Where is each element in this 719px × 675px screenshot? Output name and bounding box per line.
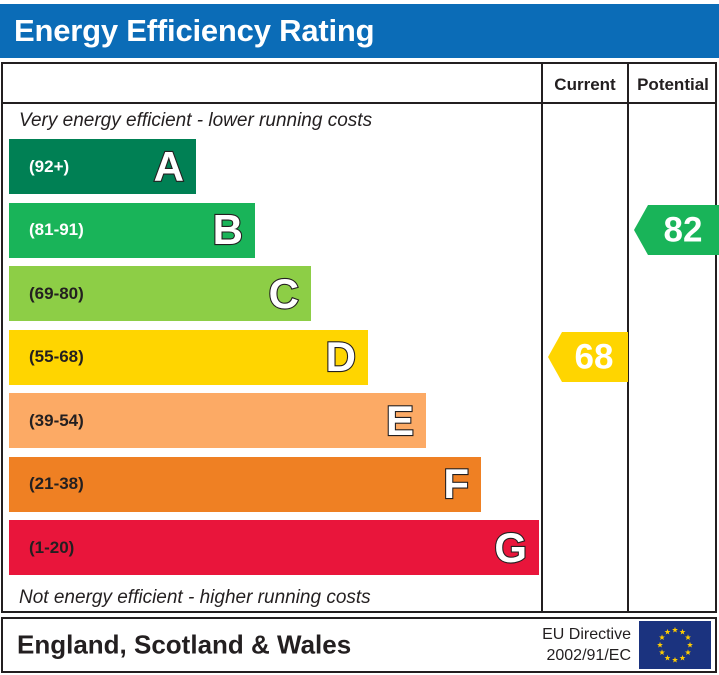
caption-very-efficient: Very energy efficient - lower running co… — [19, 110, 372, 132]
band-bar-c: (69-80)C — [9, 266, 311, 321]
column-header-current: Current — [543, 74, 627, 96]
band-bar-group: (92+)A(81-91)B(69-80)C(55-68)D(39-54)E(2… — [9, 139, 539, 579]
chart-title-bar: Energy Efficiency Rating — [0, 4, 719, 58]
band-letter-b: B — [213, 209, 243, 251]
current-rating-value: 68 — [566, 340, 622, 375]
band-range-g: (1-20) — [29, 538, 74, 558]
rating-table: Current Potential Very energy efficient … — [1, 62, 717, 613]
current-rating-marker: 68 — [548, 332, 628, 382]
chart-footer: England, Scotland & Wales EU Directive 2… — [1, 617, 717, 673]
potential-rating-marker: 82 — [634, 205, 719, 255]
band-letter-g: G — [494, 527, 527, 569]
band-range-a: (92+) — [29, 157, 69, 177]
band-letter-d: D — [326, 336, 356, 378]
band-range-b: (81-91) — [29, 220, 84, 240]
potential-rating-value: 82 — [652, 213, 714, 248]
energy-efficiency-rating-chart: Energy Efficiency Rating Current Potenti… — [0, 0, 719, 675]
directive-line-1: EU Directive — [542, 624, 631, 645]
band-bar-e: (39-54)E — [9, 393, 426, 448]
band-letter-a: A — [154, 146, 184, 188]
column-header-potential: Potential — [629, 74, 717, 96]
caption-not-efficient: Not energy efficient - higher running co… — [19, 587, 371, 609]
band-range-c: (69-80) — [29, 284, 84, 304]
header-divider — [3, 102, 715, 104]
band-bar-d: (55-68)D — [9, 330, 368, 385]
footer-directive-label: EU Directive 2002/91/EC — [542, 624, 631, 666]
band-letter-e: E — [386, 400, 414, 442]
band-letter-f: F — [443, 463, 469, 505]
band-letter-c: C — [269, 273, 299, 315]
band-bar-b: (81-91)B — [9, 203, 255, 258]
band-range-d: (55-68) — [29, 347, 84, 367]
page-title: Energy Efficiency Rating — [14, 13, 374, 49]
band-bar-g: (1-20)G — [9, 520, 539, 575]
directive-line-2: 2002/91/EC — [542, 645, 631, 666]
band-bar-f: (21-38)F — [9, 457, 481, 512]
band-range-e: (39-54) — [29, 411, 84, 431]
current-column-divider — [541, 64, 543, 611]
eu-flag-stars — [639, 621, 711, 669]
band-bar-a: (92+)A — [9, 139, 196, 194]
footer-region-label: England, Scotland & Wales — [17, 630, 351, 661]
band-range-f: (21-38) — [29, 474, 84, 494]
eu-flag-icon — [639, 621, 711, 669]
